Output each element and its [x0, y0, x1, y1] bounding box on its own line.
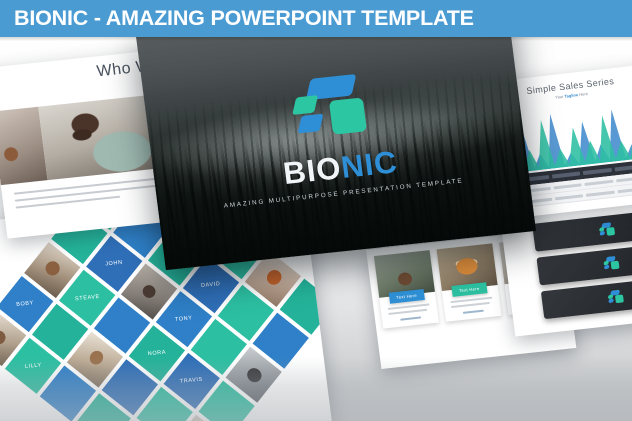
wordmark-light: BIO: [281, 150, 343, 191]
text-line: [462, 310, 483, 314]
team-member-name: TRAVIS: [180, 377, 204, 385]
portfolio-card-image: Text Here: [437, 243, 498, 291]
bionic-logo-icon: [607, 289, 625, 306]
table-header-cell: [552, 171, 581, 178]
portfolio-card[interactable]: Text Here: [374, 250, 439, 328]
portfolio-card[interactable]: Text Here: [437, 243, 502, 321]
banner-shadow: [0, 37, 632, 41]
bionic-logo-icon: [602, 255, 620, 272]
page-title: BIONIC - AMAZING POWERPOINT TEMPLATE: [14, 6, 474, 31]
team-member-name: JOHN: [105, 260, 123, 268]
header-banner: BIONIC - AMAZING POWERPOINT TEMPLATE: [0, 0, 632, 37]
portfolio-card-image: Text Here: [374, 250, 435, 298]
text-line: [388, 309, 427, 315]
table-cell: [616, 176, 632, 182]
wordmark-accent: NIC: [339, 144, 400, 185]
table-cell: [618, 186, 632, 192]
table-cell: [585, 179, 614, 185]
preview-canvas: BIONIC - AMAZING POWERPOINT TEMPLATE Who…: [0, 0, 632, 421]
team-member-name: DAVID: [201, 281, 221, 289]
who-photo-woman-at-desk: [38, 95, 158, 180]
team-member-name: TONY: [175, 315, 193, 323]
table-header-cell: [615, 164, 632, 171]
text-line: [400, 316, 421, 320]
table-header-cell: [583, 168, 612, 175]
bionic-logo-icon: [598, 221, 616, 238]
chart-tagline-accent: Tagline: [564, 92, 578, 99]
text-line: [451, 302, 490, 308]
who-body-text: Lorem Ipsum is simply dummy text of the …: [16, 213, 17, 214]
team-member-name: BOBY: [16, 300, 34, 308]
chart-tagline-suffix: Here: [578, 91, 588, 97]
team-member-name: LILLY: [24, 362, 42, 370]
team-member-name: NORA: [147, 349, 166, 357]
table-cell: [586, 190, 615, 196]
hero-wordmark: BIONIC: [281, 146, 399, 189]
bionic-cube-logo-icon: [291, 72, 375, 149]
table-cell: [553, 183, 582, 189]
team-member-name: STEAVE: [74, 294, 100, 302]
table-cell: [555, 194, 584, 200]
